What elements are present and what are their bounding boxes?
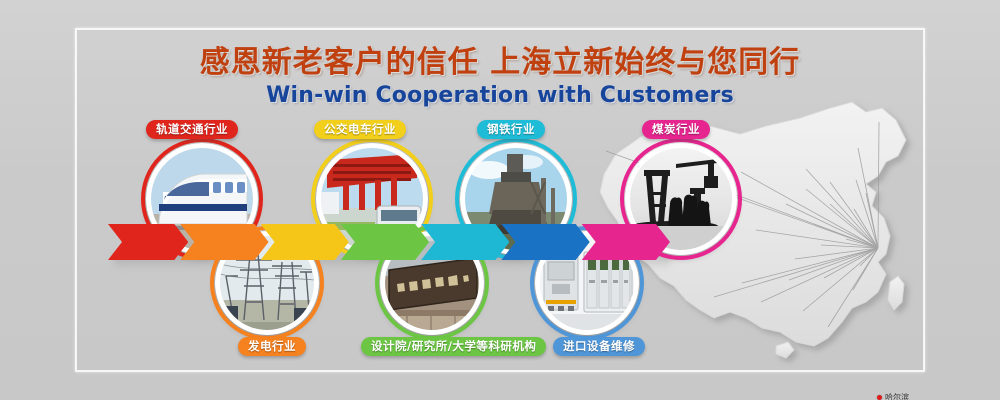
map-city-dot <box>877 395 882 400</box>
industry-label-coal[interactable]: 煤炭行业 <box>642 120 710 139</box>
industry-label-bus-trolley[interactable]: 公交电车行业 <box>314 120 406 139</box>
industry-label-imported-equipment-repair[interactable]: 进口设备维修 <box>553 337 645 356</box>
promo-banner: 感恩新老客户的信任 上海立新始终与您同行 Win-win Cooperation… <box>0 0 1000 400</box>
ribbon-segment-rail-transit <box>108 224 188 260</box>
industry-label-power-generation[interactable]: 发电行业 <box>238 337 306 356</box>
page-title-cn: 感恩新老客户的信任 上海立新始终与您同行 <box>0 48 1000 78</box>
industry-label-research-institutes[interactable]: 设计院/研究所/大学等科研机构 <box>361 337 546 356</box>
industry-label-steel[interactable]: 钢铁行业 <box>477 120 545 139</box>
industry-label-rail-transit[interactable]: 轨道交通行业 <box>146 120 238 139</box>
map-city-label: 哈尔滨 <box>885 392 909 400</box>
